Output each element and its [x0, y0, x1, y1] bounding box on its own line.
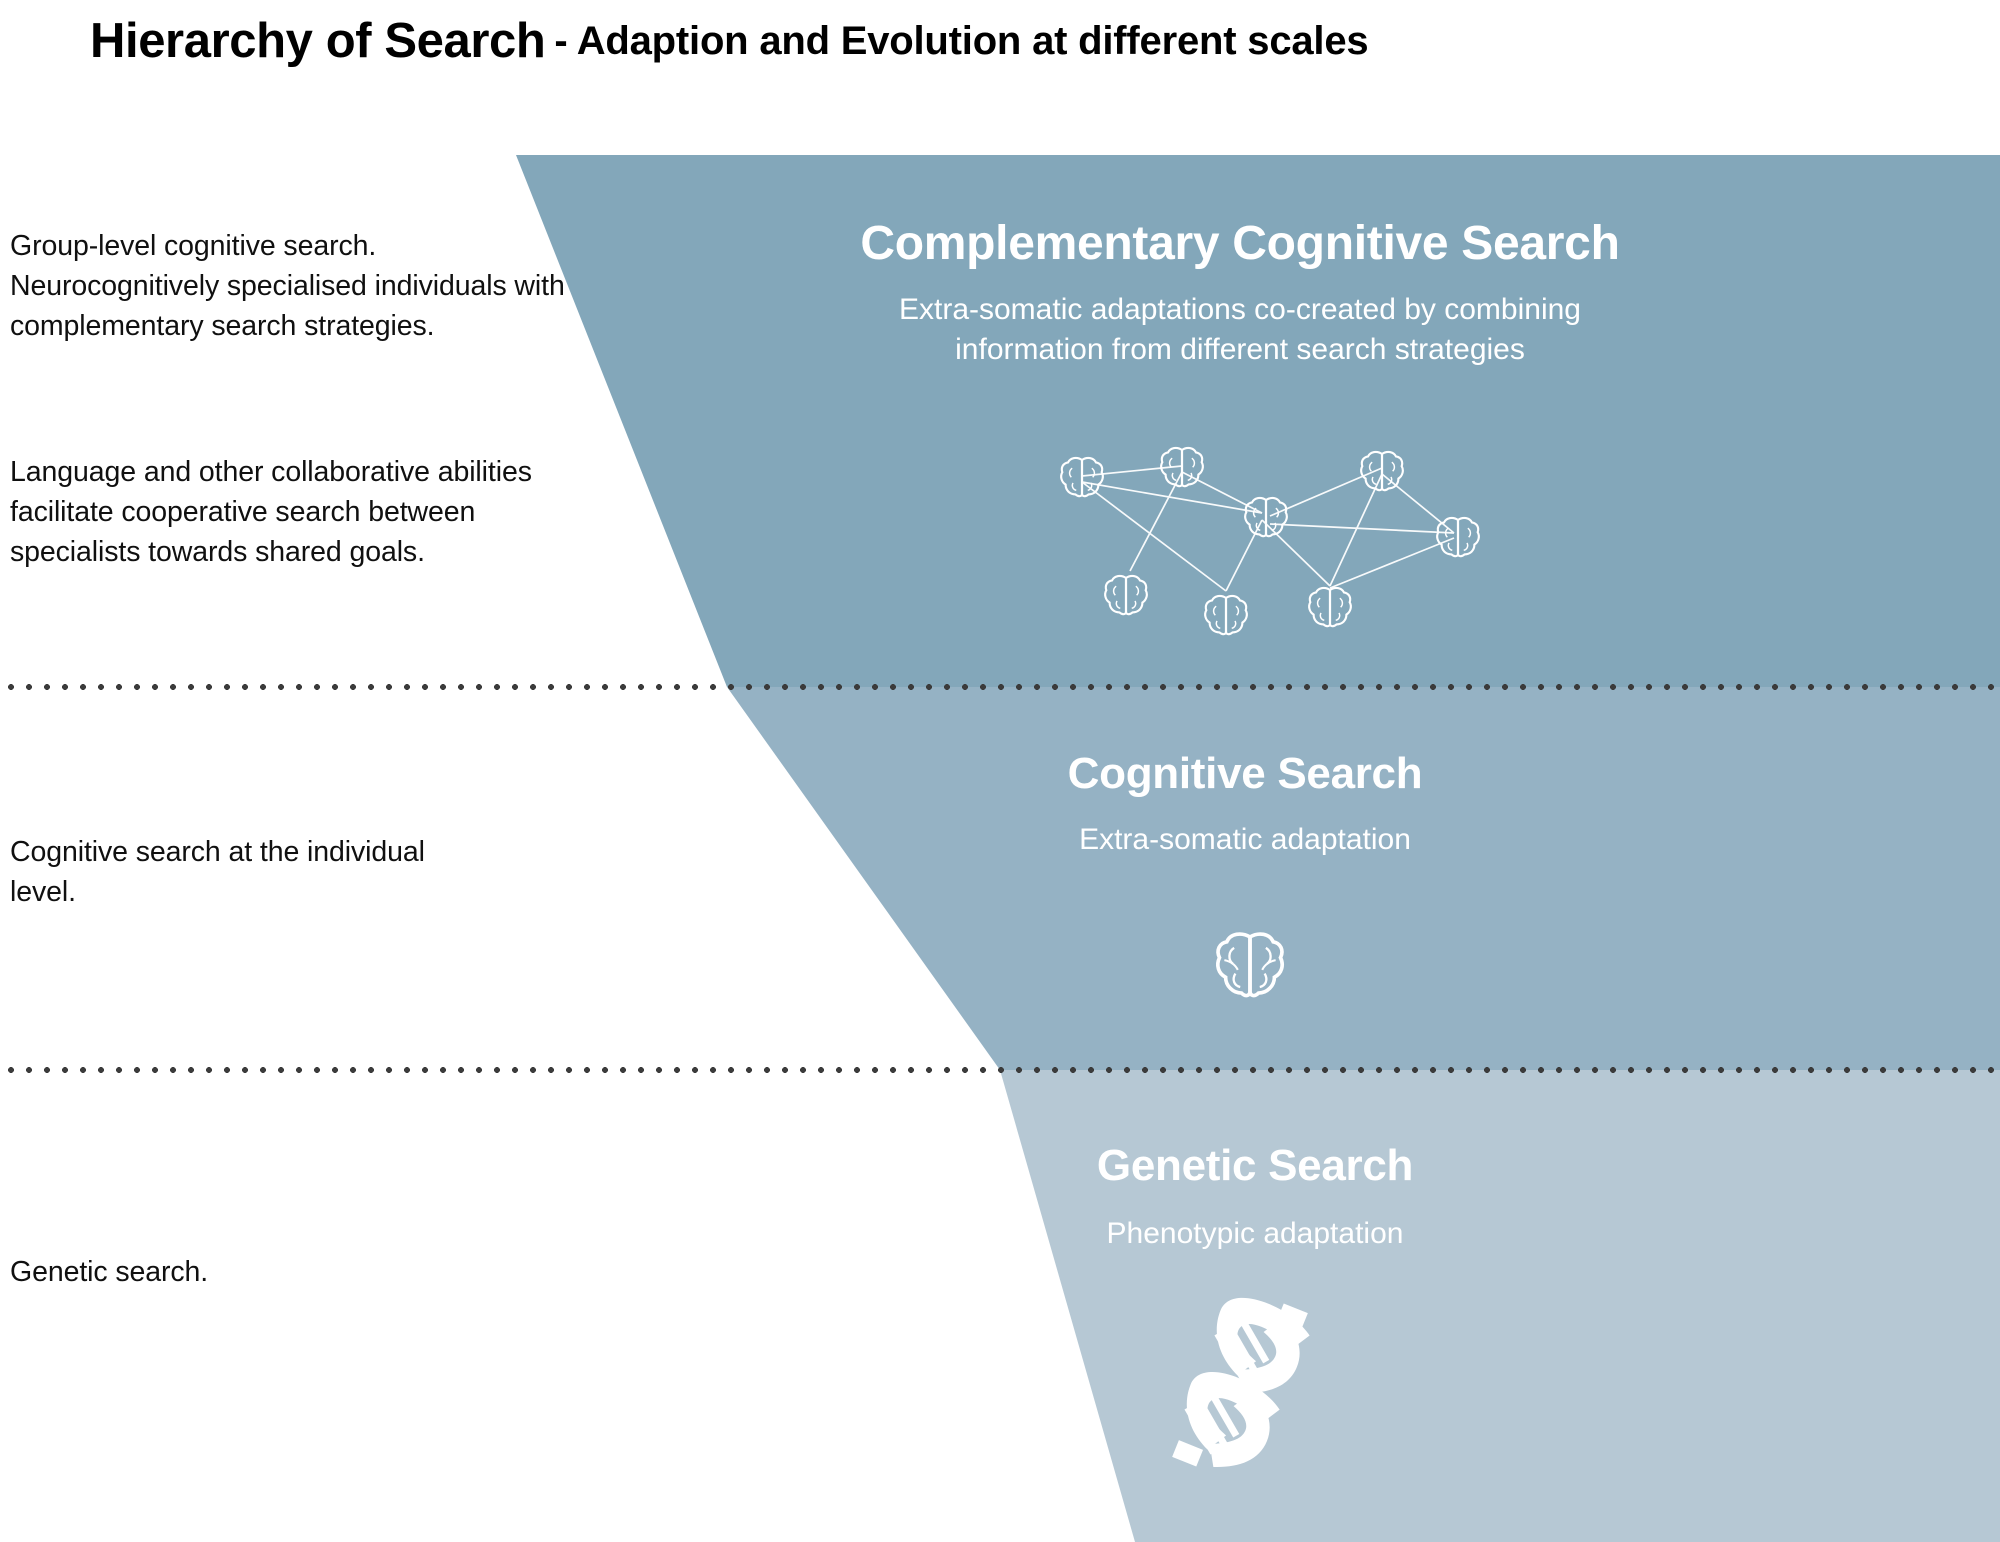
- band-subtitle: Extra-somatic adaptation: [760, 820, 1730, 860]
- annotation-group-level: Group-level cognitive search. Neurocogni…: [10, 226, 570, 346]
- band-heading: Cognitive Search: [760, 748, 1730, 800]
- band-label-genetic-search: Genetic Search Phenotypic adaptation: [860, 1140, 1650, 1254]
- band-label-cognitive-search: Cognitive Search Extra-somatic adaptatio…: [760, 748, 1730, 860]
- annotation-individual: Cognitive search at the individual level…: [10, 832, 440, 912]
- funnel-band-middle: [727, 687, 2000, 1070]
- band-subtitle-line-2: information from different search strate…: [560, 330, 1920, 370]
- band-subtitle-line-1: Extra-somatic adaptations co-created by …: [560, 290, 1920, 330]
- band-heading: Complementary Cognitive Search: [560, 216, 1920, 272]
- brain-network-nodes: [1061, 448, 1479, 634]
- divider-individual-genetic: [0, 1067, 2000, 1073]
- band-subtitle: Extra-somatic adaptations co-created by …: [560, 290, 1920, 370]
- dna-helix-icon: [1150, 1285, 1330, 1485]
- annotation-genetic: Genetic search.: [10, 1252, 430, 1292]
- brain-network-links: [1082, 466, 1454, 591]
- diagram-canvas: Hierarchy of Search - Adaption and Evolu…: [0, 0, 2000, 1542]
- band-heading: Genetic Search: [860, 1140, 1650, 1192]
- band-subtitle: Phenotypic adaptation: [860, 1214, 1650, 1254]
- band-label-complementary-cognitive-search: Complementary Cognitive Search Extra-som…: [560, 216, 1920, 370]
- annotation-language: Language and other collaborative abiliti…: [10, 452, 580, 572]
- brain-icon: [1185, 895, 1315, 1035]
- brain-network-icon: [1030, 428, 1510, 648]
- divider-group-individual: [0, 684, 2000, 690]
